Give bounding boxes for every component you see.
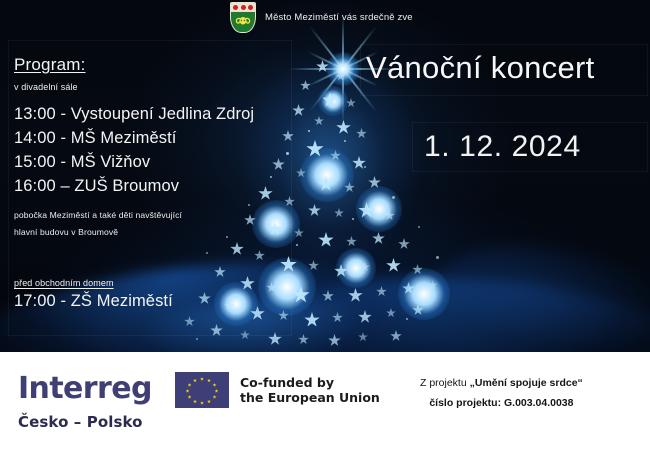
tree-glow-node — [258, 258, 316, 316]
sparkle — [352, 218, 354, 220]
tree-star — [224, 300, 235, 311]
tree-star — [348, 288, 363, 303]
tree-star — [230, 242, 244, 256]
tree-star — [266, 282, 277, 293]
tree-star — [372, 232, 385, 245]
tree-glow-node — [356, 186, 402, 232]
tree-star — [240, 330, 250, 340]
sparkle — [406, 318, 408, 320]
interreg-wordmark: Interreg — [18, 374, 168, 404]
venue-theatre-hall: v divadelní sále — [14, 82, 334, 92]
tree-star — [346, 236, 357, 247]
sparkle — [196, 338, 198, 340]
sparkle — [418, 226, 420, 228]
tree-star — [328, 334, 341, 347]
tree-star — [336, 72, 345, 81]
crest-band — [231, 3, 255, 12]
poster-root: Město Meziměstí vás srdečně zve Program:… — [0, 0, 650, 460]
tree-star — [254, 250, 265, 261]
sparkle — [296, 244, 298, 246]
tree-star — [210, 324, 223, 337]
program-note-block: pobočka Meziměstí a také děti navštěvují… — [14, 207, 334, 241]
tree-star — [304, 312, 320, 328]
tree-star — [384, 210, 395, 221]
sparkle — [364, 166, 366, 168]
ram-head-icon — [235, 14, 252, 30]
tree-star — [386, 308, 396, 318]
tree-star — [356, 128, 367, 139]
tree-star — [360, 262, 370, 272]
interreg-subtitle: Česko – Polsko — [18, 413, 168, 431]
tree-glow-node — [336, 248, 376, 288]
tree-glow-node — [398, 268, 450, 320]
interreg-logo: Interreg Česko – Polsko — [18, 374, 168, 431]
program-item: 17:00 - ZŠ Meziměstí — [14, 292, 173, 311]
eu-funding-logo: Co-funded by the European Union — [175, 372, 380, 408]
tree-star — [268, 332, 282, 346]
program-heading: Program: — [14, 55, 334, 75]
sparkle — [392, 196, 395, 199]
program-block-secondary: před obchodním domem 17:00 - ZŠ Meziměst… — [14, 278, 173, 311]
tree-star — [346, 98, 356, 108]
sparkle — [344, 140, 346, 142]
tree-star — [292, 286, 310, 304]
tree-star — [322, 290, 334, 302]
tree-star — [358, 332, 368, 342]
header-invitation-text: Město Meziměstí vás srdečně zve — [265, 12, 413, 23]
tree-star — [390, 330, 402, 342]
tree-star — [344, 182, 355, 193]
tree-star — [402, 282, 415, 295]
blue-wave-right — [245, 260, 650, 352]
event-date: 1. 12. 2024 — [424, 130, 581, 164]
tree-star — [334, 208, 344, 218]
tree-star — [332, 312, 343, 323]
program-item: 15:00 - MŠ Vižňov — [14, 150, 334, 174]
tree-star — [368, 176, 381, 189]
program-item: 14:00 - MŠ Meziměstí — [14, 126, 334, 150]
tree-star — [214, 266, 226, 278]
tree-star — [398, 238, 410, 250]
tree-star — [386, 258, 401, 273]
tree-star — [278, 310, 289, 321]
sparkle — [206, 252, 208, 254]
tree-star — [376, 286, 387, 297]
hero-artwork-area: Město Meziměstí vás srdečně zve Program:… — [0, 0, 650, 352]
program-note-line: hlavní budovu v Broumově — [14, 224, 334, 241]
eu-funding-line-1: Co-funded by — [240, 375, 380, 390]
page-title: Vánoční koncert — [366, 50, 595, 86]
tree-star — [358, 310, 372, 324]
project-name-line: Z projektu „Umění spojuje srdce“ — [420, 377, 583, 389]
eu-funding-line-2: the European Union — [240, 390, 380, 405]
tree-star — [428, 280, 438, 290]
tree-star — [308, 260, 319, 271]
project-number: číslo projektu: G.003.04.0038 — [420, 397, 583, 409]
project-info: Z projektu „Umění spojuje srdce“ číslo p… — [420, 377, 583, 409]
tree-star — [336, 120, 351, 135]
header-invitation-row: Město Meziměstí vás srdečně zve — [230, 2, 413, 33]
venue-in-front-of-department-store: před obchodním domem — [14, 278, 173, 288]
tree-star — [240, 276, 255, 291]
program-item: 13:00 - Vystoupení Jedlina Zdroj — [14, 102, 334, 126]
eu-funding-text: Co-funded by the European Union — [240, 375, 380, 405]
program-note-line: pobočka Meziměstí a také děti navštěvují… — [14, 207, 334, 224]
footer-logo-band: Interreg Česko – Polsko Co-funded by t — [0, 352, 650, 460]
mezimesti-coat-of-arms-icon — [230, 2, 256, 33]
program-block: Program: v divadelní sále 13:00 - Vystou… — [14, 55, 334, 241]
tree-star — [250, 306, 265, 321]
tree-star — [198, 292, 211, 305]
blue-wave-far-right — [422, 225, 650, 352]
program-item: 16:00 – ZUŠ Broumov — [14, 174, 334, 198]
tree-glow-node — [214, 282, 258, 326]
tree-star — [412, 304, 424, 316]
tree-star — [280, 256, 297, 273]
tree-star — [184, 316, 195, 327]
tree-star — [298, 334, 309, 345]
sparkle — [436, 256, 439, 259]
tree-star — [334, 264, 348, 278]
tree-star — [352, 156, 366, 170]
tree-star — [412, 264, 423, 275]
tree-star — [358, 202, 375, 219]
european-union-flag-icon — [175, 372, 229, 408]
project-name: „Umění spojuje srdce“ — [470, 377, 583, 389]
project-name-prefix: Z projektu — [420, 377, 470, 389]
